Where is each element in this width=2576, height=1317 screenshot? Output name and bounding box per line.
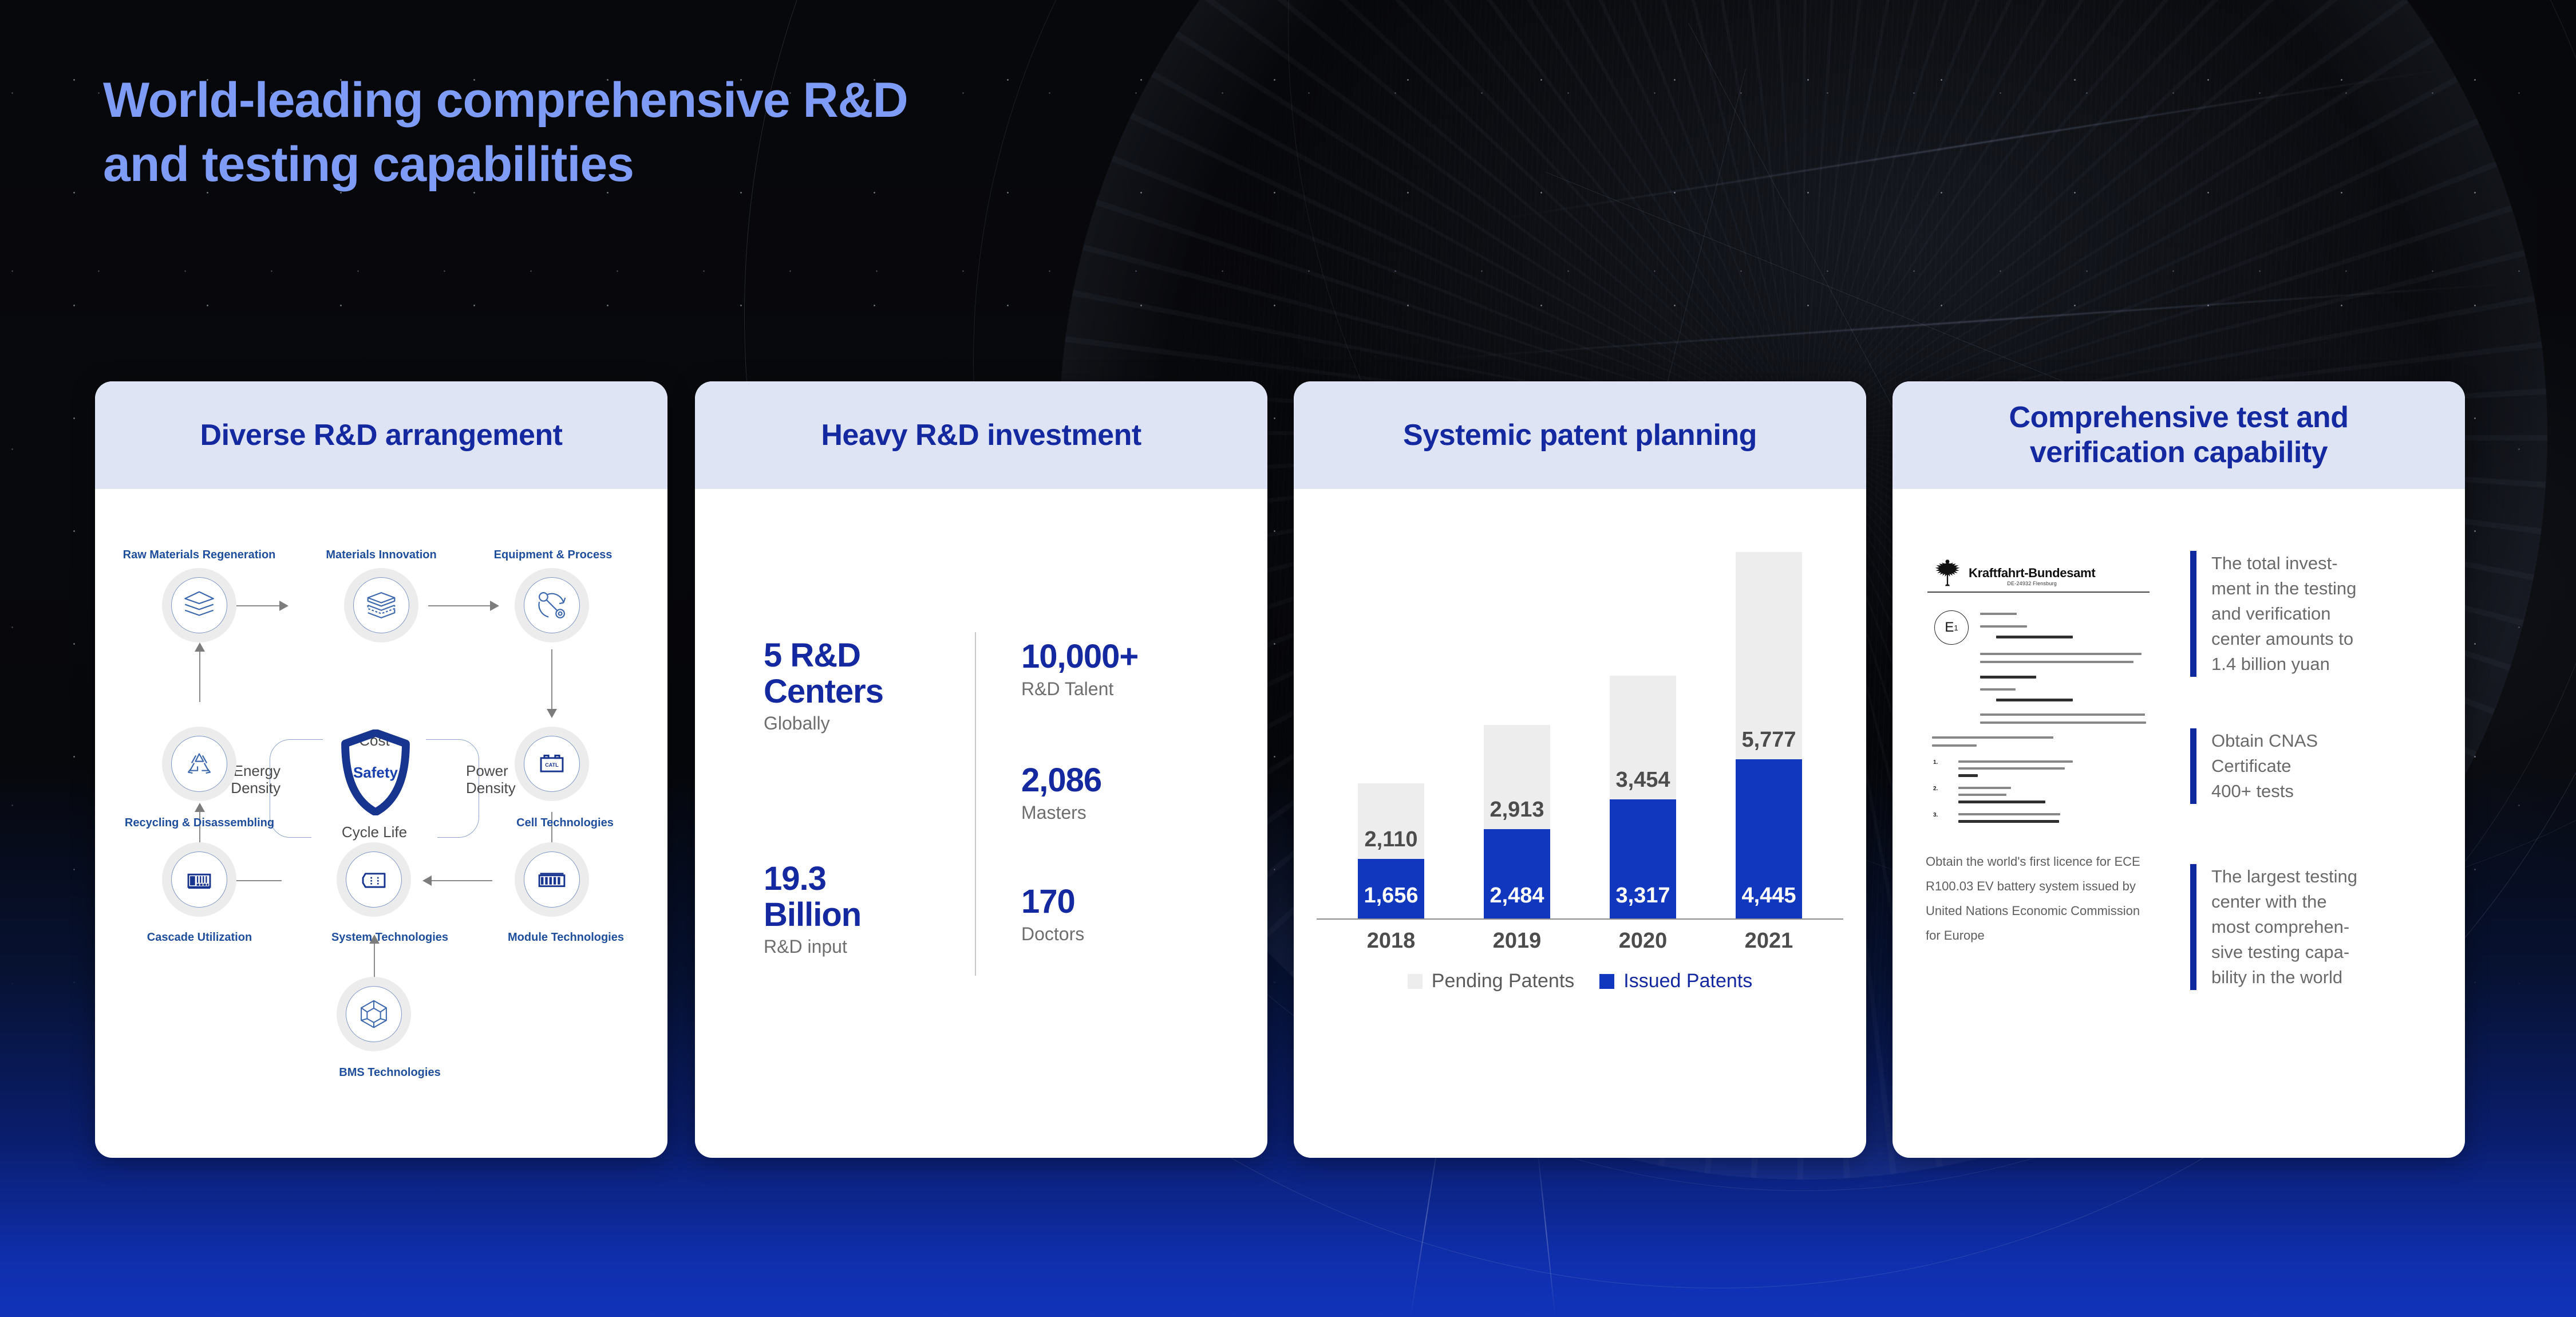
card2-body: 5 R&D Centers Globally 19.3 Billion R&D … [695, 489, 1267, 1158]
e-mark-number: 1 [1954, 624, 1958, 632]
core-label-cycle-life: Cycle Life [311, 824, 437, 841]
stat-rd-talent-label: R&D Talent [1021, 679, 1138, 700]
svg-text:CATL: CATL [545, 762, 559, 768]
arrow-equipment-to-cell-head [547, 709, 557, 718]
certificate-item-1-num: 1. [1933, 759, 1938, 766]
certificate-item-2-num: 2. [1933, 786, 1938, 792]
legend-label-pending: Pending Patents [1432, 970, 1575, 992]
legend-swatch-pending [1408, 974, 1423, 989]
card2-title: Heavy R&D investment [821, 418, 1141, 453]
stat-rd-talent-value: 10,000+ [1021, 639, 1138, 675]
bullet-text-largest-center: The largest testing center with the most… [2211, 864, 2435, 990]
certificate-location: DE-24932 Flensburg [1969, 581, 2095, 586]
node-label-module-technologies: Module Technologies [496, 931, 636, 944]
arrow-materials-to-equipment [428, 605, 492, 606]
bullet-accent-bar [2190, 728, 2196, 804]
bar-segment-issued-2019: 2,484 [1484, 829, 1550, 918]
node-recycling-disassembling[interactable] [162, 727, 236, 801]
node-label-bms-technologies: BMS Technologies [321, 1066, 459, 1079]
card4-body: Kraftfahrt-Bundesamt DE-24932 Flensburg … [1893, 489, 2465, 1158]
node-materials-innovation[interactable] [344, 568, 418, 642]
bullet-total-investment: The total invest- ment in the testing an… [2190, 551, 2435, 677]
node-cell-technologies[interactable]: CATL [515, 727, 589, 801]
certificate-item-3-num: 3. [1933, 812, 1938, 818]
battery-system-icon [354, 859, 394, 900]
card1-header: Diverse R&D arrangement [95, 381, 667, 489]
card-comprehensive-test-verification[interactable]: Comprehensive test and verification capa… [1893, 381, 2465, 1158]
certificate-org-block: Kraftfahrt-Bundesamt DE-24932 Flensburg [1969, 566, 2095, 586]
page-title-line-1: World-leading comprehensive R&D [103, 69, 1362, 133]
stat-rd-centers-label: Globally [764, 713, 883, 734]
bar-label-pending-2021: 5,777 [1741, 728, 1796, 752]
bullet-text-cnas: Obtain CNAS Certificate 400+ tests [2211, 728, 2435, 804]
bar-label-pending-2019: 2,913 [1490, 798, 1544, 822]
node-cascade-utilization[interactable] [162, 842, 236, 917]
safety-shield-icon: Safety [339, 730, 412, 815]
cascade-rack-icon [179, 859, 219, 900]
stat-masters-label: Masters [1021, 802, 1101, 823]
stat-doctors-value: 170 [1021, 884, 1084, 920]
card3-header: Systemic patent planning [1294, 381, 1866, 489]
stat-rd-input-value-1: 19.3 [764, 861, 861, 897]
robot-arm-icon [532, 585, 572, 625]
arrow-materials-to-equipment-head [490, 601, 499, 611]
bar-column-2019[interactable]: 2,9132,484 [1484, 725, 1550, 918]
card2-header: Heavy R&D investment [695, 381, 1267, 489]
certificate-caption: Obtain the world's first licence for ECE… [1926, 850, 2155, 948]
node-label-system-technologies: System Technologies [318, 931, 461, 944]
node-bms-technologies[interactable] [337, 977, 411, 1051]
bar-column-2018[interactable]: 2,1101,656 [1358, 783, 1424, 918]
chart-legend: Pending Patents Issued Patents [1334, 970, 1826, 992]
bar-column-2020[interactable]: 3,4543,317 [1610, 676, 1676, 918]
stat-rd-input: 19.3 Billion R&D input [764, 861, 861, 957]
legend-label-issued: Issued Patents [1623, 970, 1752, 992]
bar-segment-pending-2021: 5,777 [1736, 552, 1802, 759]
arrow-module-to-system-head [422, 876, 432, 886]
bullet-accent-bar [2190, 864, 2196, 990]
certificate-rule [1927, 592, 2150, 593]
bar-segment-issued-2021: 4,445 [1736, 759, 1802, 918]
bar-label-pending-2020: 3,454 [1615, 768, 1670, 792]
bar-label-issued-2019: 2,484 [1490, 884, 1544, 908]
node-system-technologies[interactable] [337, 842, 411, 917]
page-title-line-2: and testing capabilities [103, 133, 1362, 197]
chart-x-axis [1317, 918, 1843, 920]
german-eagle-icon [1934, 558, 1961, 586]
card1-body: Cost Cycle Life Energy Density Power Den… [95, 489, 667, 1158]
node-module-technologies[interactable] [515, 842, 589, 917]
node-label-raw-materials-regeneration: Raw Materials Regeneration [105, 549, 294, 562]
arrow-equipment-to-cell [551, 649, 552, 711]
stat-rd-centers: 5 R&D Centers Globally [764, 638, 883, 734]
x-axis-tick-2020: 2020 [1597, 929, 1689, 953]
bar-column-2021[interactable]: 5,7774,445 [1736, 552, 1802, 918]
stat-rd-input-value-2: Billion [764, 897, 861, 933]
card4-title-line-2: verification capability [2009, 435, 2349, 470]
stat-rd-centers-value-1: 5 R&D [764, 638, 883, 674]
stat-masters: 2,086 Masters [1021, 763, 1101, 823]
bar-segment-pending-2019: 2,913 [1484, 725, 1550, 829]
legend-item-pending-patents[interactable]: Pending Patents [1408, 970, 1575, 992]
bar-label-issued-2020: 3,317 [1615, 884, 1670, 908]
cube-bms-icon [354, 994, 394, 1034]
certificate-header: Kraftfahrt-Bundesamt DE-24932 Flensburg [1924, 558, 2153, 586]
page-title: World-leading comprehensive R&D and test… [103, 69, 1362, 197]
card4-title: Comprehensive test and verification capa… [2009, 400, 2349, 470]
stacked-materials-icon [361, 585, 401, 625]
bar-segment-pending-2020: 3,454 [1610, 676, 1676, 799]
battery-cell-catl-icon: CATL [532, 744, 572, 784]
recycle-icon [179, 744, 219, 784]
kba-certificate-image: Kraftfahrt-Bundesamt DE-24932 Flensburg … [1924, 558, 2153, 827]
stat-doctors-label: Doctors [1021, 924, 1084, 945]
bullet-cnas-certificate: Obtain CNAS Certificate 400+ tests [2190, 728, 2435, 804]
arrow-raw-to-materials-head [279, 601, 289, 611]
stat-rd-input-label: R&D input [764, 936, 861, 957]
stat-doctors: 170 Doctors [1021, 884, 1084, 945]
bar-label-pending-2018: 2,110 [1365, 827, 1418, 852]
node-label-recycling-disassembling: Recycling & Disassembling [104, 817, 295, 830]
card-heavy-rd-investment[interactable]: Heavy R&D investment 5 R&D Centers Globa… [695, 381, 1267, 1158]
bullet-accent-bar [2190, 551, 2196, 677]
bar-segment-issued-2020: 3,317 [1610, 799, 1676, 918]
x-axis-tick-2021: 2021 [1723, 929, 1815, 953]
card-diverse-rd-arrangement[interactable]: Diverse R&D arrangement Cost Cycle Life … [95, 381, 667, 1158]
arrow-module-to-system [428, 880, 492, 881]
x-axis-tick-2019: 2019 [1471, 929, 1563, 953]
x-axis-tick-2018: 2018 [1345, 929, 1437, 953]
node-label-cell-technologies: Cell Technologies [499, 817, 631, 830]
battery-module-icon [532, 859, 572, 900]
node-label-equipment-process: Equipment & Process [476, 549, 630, 562]
stat-masters-value: 2,086 [1021, 763, 1101, 799]
card4-header: Comprehensive test and verification capa… [1893, 381, 2465, 489]
node-raw-materials-regeneration[interactable] [162, 568, 236, 642]
stat-rd-talent: 10,000+ R&D Talent [1021, 639, 1138, 700]
node-equipment-process[interactable] [515, 568, 589, 642]
certificate-org-name: Kraftfahrt-Bundesamt [1969, 566, 2095, 579]
card1-title: Diverse R&D arrangement [200, 418, 563, 453]
bar-segment-issued-2018: 1,656 [1358, 859, 1424, 918]
bar-label-issued-2021: 4,445 [1741, 884, 1796, 908]
e-mark-icon: E1 [1934, 610, 1969, 645]
stat-rd-centers-value-2: Centers [764, 674, 883, 710]
layers-icon [179, 585, 219, 625]
patent-stacked-bar-chart: 2,1101,6562,9132,4843,4543,3175,7774,445 [1328, 552, 1832, 918]
card3-title: Systemic patent planning [1403, 418, 1757, 453]
card3-body: 2,1101,6562,9132,4843,4543,3175,7774,445… [1294, 489, 1866, 1158]
bullet-text-total-investment: The total invest- ment in the testing an… [2211, 551, 2435, 677]
legend-swatch-issued [1599, 974, 1614, 989]
arrow-cascade-to-recycling-head [195, 803, 205, 812]
e-mark-letter: E [1945, 620, 1954, 636]
stats-divider [975, 632, 976, 976]
legend-item-issued-patents[interactable]: Issued Patents [1599, 970, 1752, 992]
card-systemic-patent-planning[interactable]: Systemic patent planning 2,1101,6562,913… [1294, 381, 1866, 1158]
arrow-recycling-to-raw [199, 649, 200, 702]
bar-label-issued-2018: 1,656 [1364, 884, 1418, 908]
arrow-recycling-to-raw-head [195, 642, 205, 652]
bar-segment-pending-2018: 2,110 [1358, 783, 1424, 859]
node-label-materials-innovation: Materials Innovation [301, 549, 461, 562]
card4-title-line-1: Comprehensive test and [2009, 400, 2349, 435]
bullet-largest-testing-center: The largest testing center with the most… [2190, 864, 2435, 990]
node-label-cascade-utilization: Cascade Utilization [124, 931, 275, 944]
safety-shield-label: Safety [339, 764, 412, 782]
